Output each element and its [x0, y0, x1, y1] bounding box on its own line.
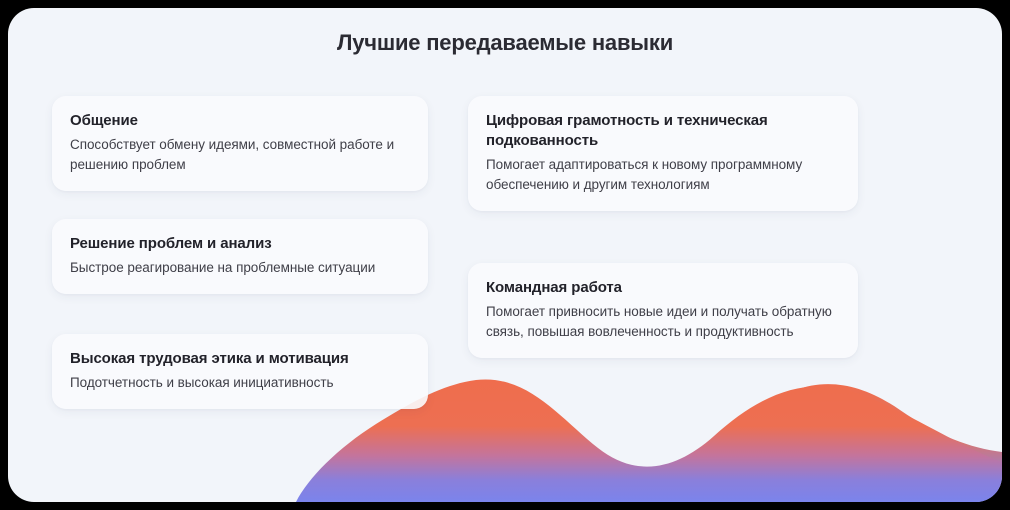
skill-card-title: Высокая трудовая этика и мотивация	[70, 349, 410, 369]
skill-card-description: Помогает привносить новые идеи и получат…	[486, 302, 840, 342]
skill-card-title: Командная работа	[486, 278, 840, 298]
skill-card-problem-solving: Решение проблем и анализ Быстрое реагиро…	[52, 219, 428, 294]
skill-card-description: Быстрое реагирование на проблемные ситуа…	[70, 258, 410, 278]
skill-card-communication: Общение Способствует обмену идеями, совм…	[52, 96, 428, 191]
skill-card-description: Способствует обмену идеями, совместной р…	[70, 135, 410, 175]
skill-card-work-ethic: Высокая трудовая этика и мотивация Подот…	[52, 334, 428, 409]
page-title: Лучшие передаваемые навыки	[8, 30, 1002, 56]
skill-card-description: Помогает адаптироваться к новому програм…	[486, 155, 840, 195]
skill-card-teamwork: Командная работа Помогает привносить нов…	[468, 263, 858, 358]
skill-card-description: Подотчетность и высокая инициативность	[70, 373, 410, 393]
skill-card-title: Цифровая грамотность и техническая подко…	[486, 111, 840, 151]
skill-card-digital-literacy: Цифровая грамотность и техническая подко…	[468, 96, 858, 211]
skill-card-title: Общение	[70, 111, 410, 131]
infographic-panel: Лучшие передаваемые навыки Общение Спосо…	[8, 8, 1002, 502]
skill-card-title: Решение проблем и анализ	[70, 234, 410, 254]
